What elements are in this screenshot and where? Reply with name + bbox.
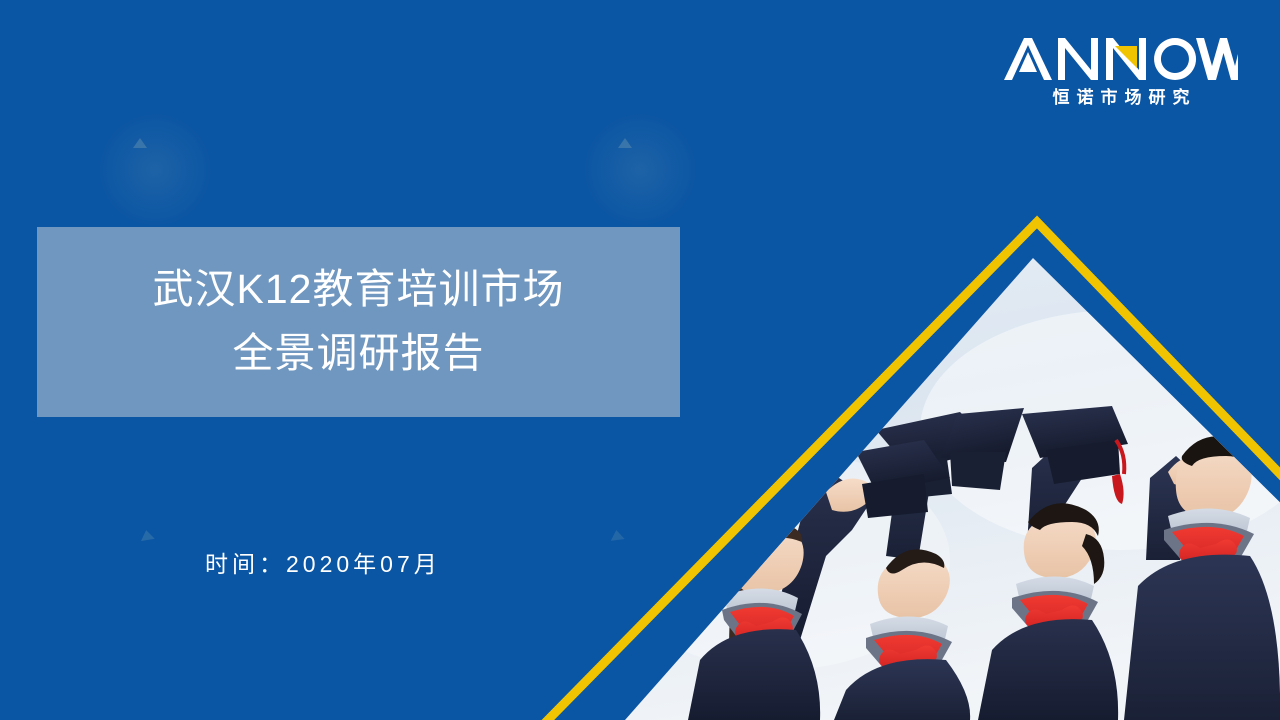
page-title-line-2: 全景调研报告 <box>233 322 485 386</box>
student-figure <box>1124 436 1280 720</box>
background-triangle-icon <box>139 529 155 541</box>
page-title-line-1: 武汉K12教育培训市场 <box>153 258 565 322</box>
student-figure <box>688 476 875 720</box>
background-triangle-icon <box>133 138 147 148</box>
background-decoration-blob <box>580 110 700 230</box>
graduation-cap-icon <box>856 440 950 518</box>
student-figure <box>978 446 1118 720</box>
annow-wordmark-icon <box>1002 36 1240 82</box>
brand-logo: 恒诺市场研究 <box>1002 36 1240 106</box>
student-figure <box>834 422 970 720</box>
graduation-cap-icon <box>1022 406 1128 504</box>
graduation-cap-icon <box>876 412 996 500</box>
background-triangle-icon <box>618 138 632 148</box>
background-decoration-blob <box>95 110 215 230</box>
title-panel: 武汉K12教育培训市场 全景调研报告 <box>37 227 680 417</box>
report-date: 时间：2020年07月 <box>205 545 441 579</box>
cover-slide: 武汉K12教育培训市场 全景调研报告 时间：2020年07月 恒诺市场研究 <box>0 0 1280 720</box>
brand-logo-subtitle: 恒诺市场研究 <box>1002 89 1240 106</box>
background-triangle-icon <box>609 529 624 541</box>
graduation-cap-icon <box>940 408 1024 490</box>
